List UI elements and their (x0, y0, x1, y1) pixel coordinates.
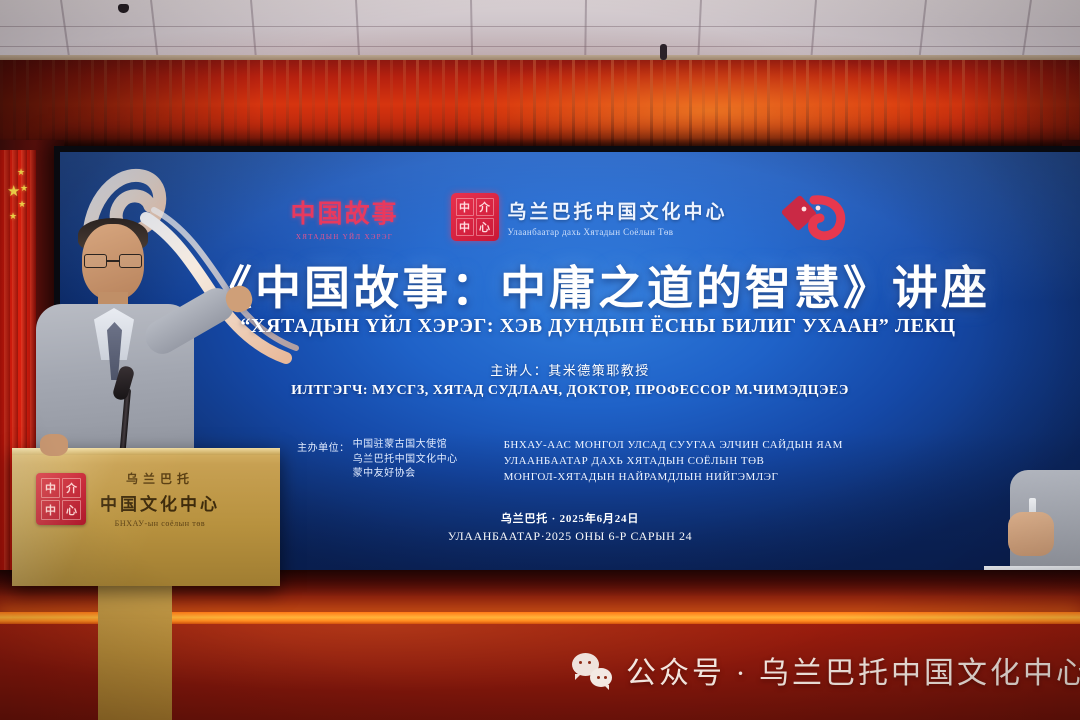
wechat-watermark-text: 公众号 · 乌兰巴托中国文化中心 (626, 648, 1080, 692)
seated-attendee (984, 470, 1080, 580)
red-curtain-valance (0, 60, 1080, 152)
ceiling-spotlight-icon (660, 44, 667, 60)
podium: 中 介 中 心 乌兰巴托 中国文化中心 БНХАУ-ын соёлын төв (12, 448, 280, 586)
glasses-icon (84, 254, 142, 268)
lecture-hall-photo: ★★★★★ 中国故事 ХЯТАДЫН ҮЙЛ ХЭРЭГ (0, 0, 1080, 720)
wechat-watermark: 公众号 · 乌兰巴托中国文化中心 (572, 648, 1080, 692)
wechat-icon (572, 653, 612, 687)
lecturer-resting-hand (40, 434, 68, 456)
podium-sheen (12, 448, 280, 586)
attendee-hands (1008, 512, 1054, 556)
podium-base (98, 586, 172, 720)
ceiling-tiles (0, 0, 1080, 62)
ceiling-light-spill (0, 0, 1080, 62)
